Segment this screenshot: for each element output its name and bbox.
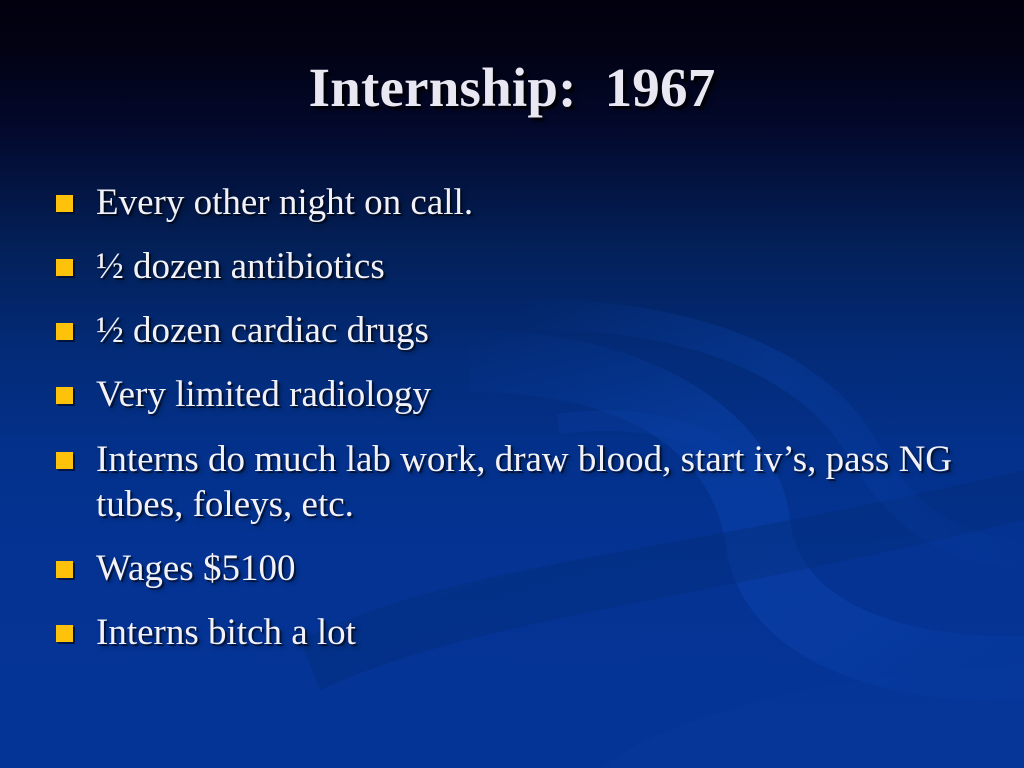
slide-body-placeholder: Every other night on call. ½ dozen antib… — [56, 180, 986, 674]
gold-square-bullet-icon — [56, 625, 73, 642]
gold-square-bullet-icon — [56, 452, 73, 469]
list-item: ½ dozen antibiotics — [56, 244, 986, 289]
list-item: ½ dozen cardiac drugs — [56, 308, 986, 353]
gold-square-bullet-icon — [56, 387, 73, 404]
bullet-text: Very limited radiology — [96, 372, 986, 417]
gold-square-bullet-icon — [56, 195, 73, 212]
gold-square-bullet-icon — [56, 561, 73, 578]
slide-title-placeholder: Internship: 1967 — [0, 58, 1024, 117]
list-item: Very limited radiology — [56, 372, 986, 417]
bullet-text: ½ dozen antibiotics — [96, 244, 986, 289]
gold-square-bullet-icon — [56, 323, 73, 340]
list-item: Interns do much lab work, draw blood, st… — [56, 437, 986, 527]
list-item: Every other night on call. — [56, 180, 986, 225]
bullet-text: Wages $5100 — [96, 546, 986, 591]
gold-square-bullet-icon — [56, 259, 73, 276]
bullet-text: Every other night on call. — [96, 180, 986, 225]
list-item: Interns bitch a lot — [56, 610, 986, 655]
bullet-text: Interns do much lab work, draw blood, st… — [96, 437, 986, 527]
page-title: Internship: 1967 — [309, 58, 716, 117]
bullet-text: ½ dozen cardiac drugs — [96, 308, 986, 353]
bullet-text: Interns bitch a lot — [96, 610, 986, 655]
list-item: Wages $5100 — [56, 546, 986, 591]
presentation-slide: Internship: 1967 Every other night on ca… — [0, 0, 1024, 768]
